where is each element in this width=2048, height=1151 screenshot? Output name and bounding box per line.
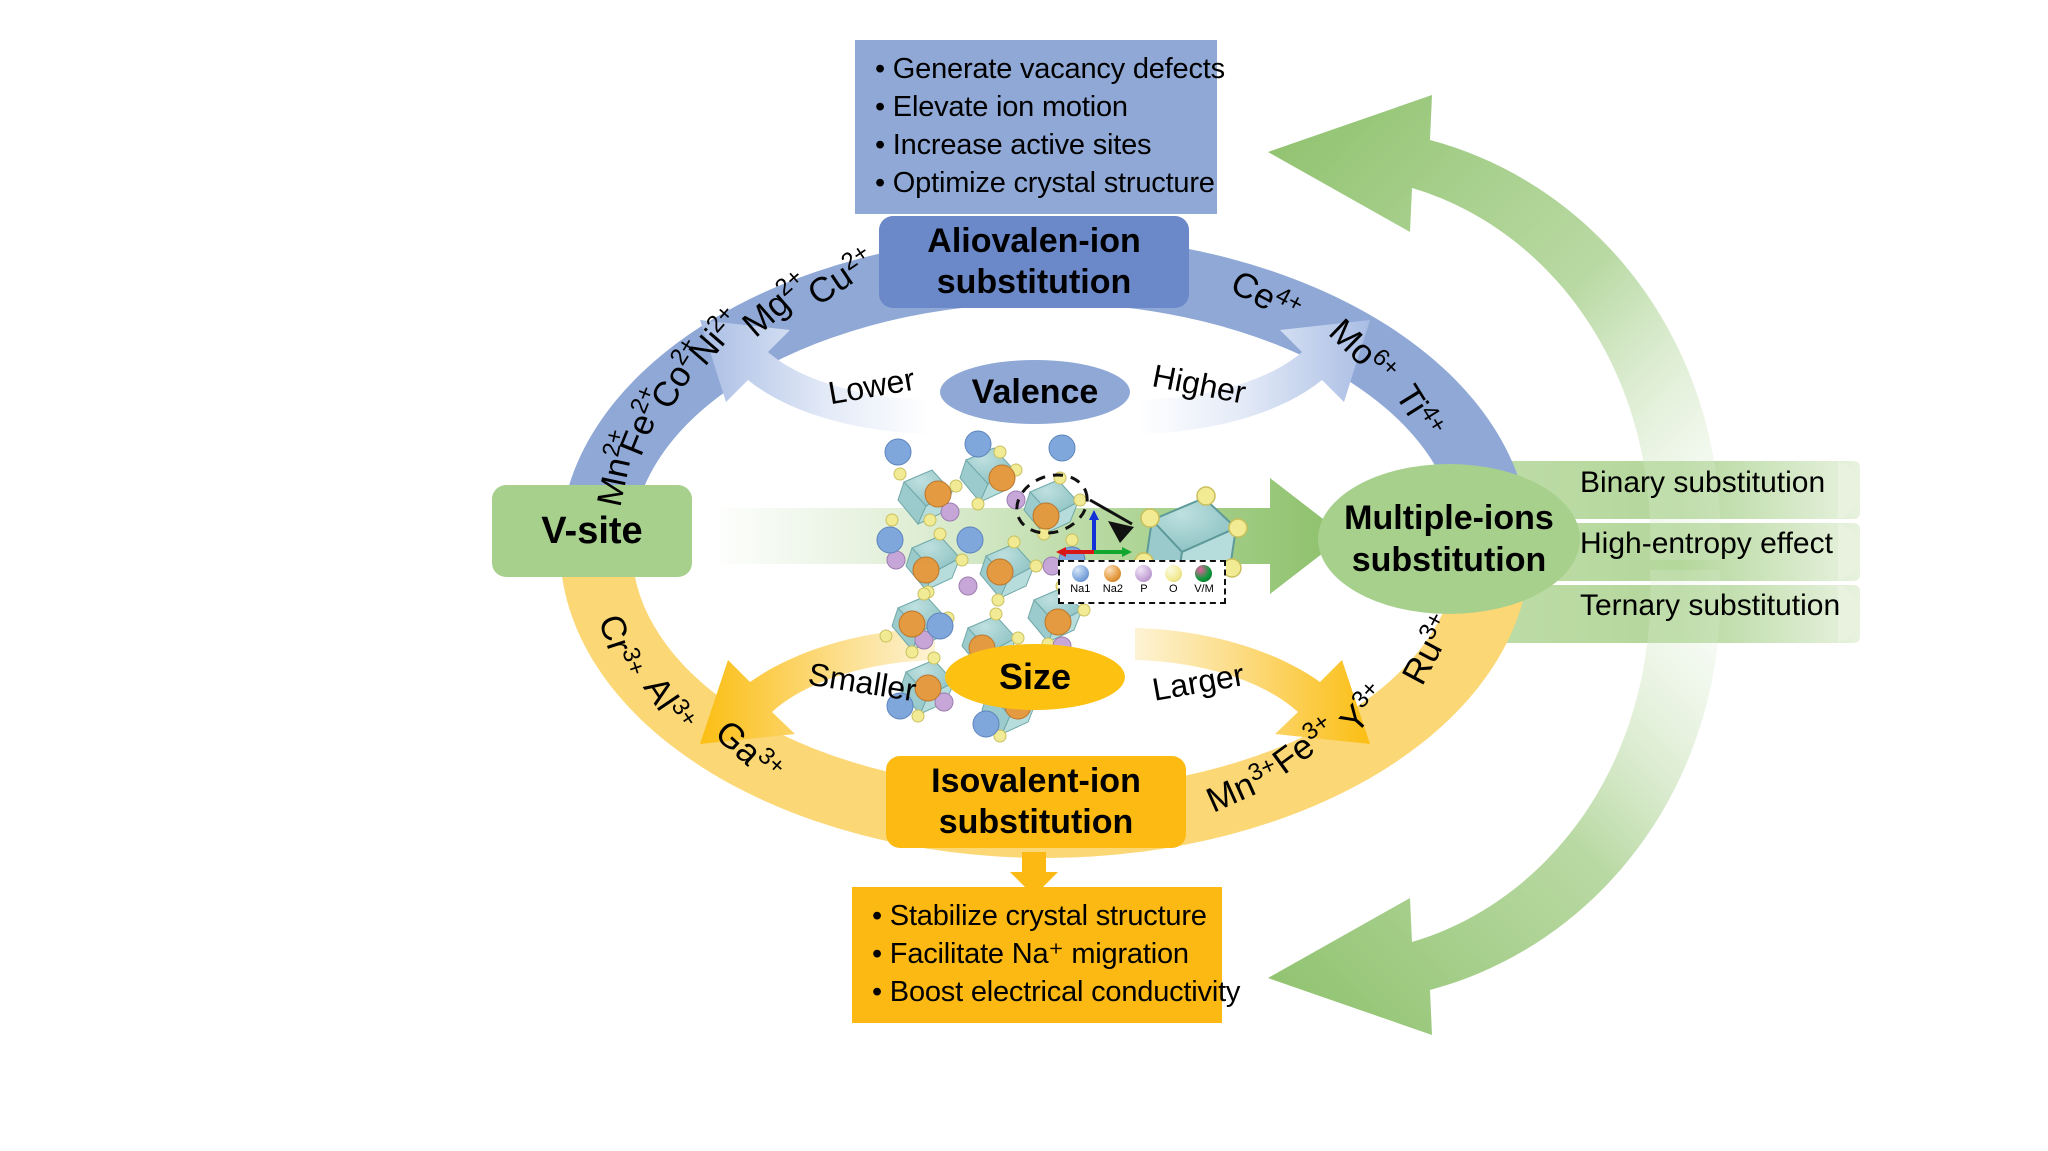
valence-label: Valence [972,373,1099,412]
outcome-line: • Elevate ion motion [875,88,1201,126]
outcome-line: • Optimize crystal structure [875,164,1201,202]
legend-swatch [1195,565,1212,582]
aliovalent-outcomes-box: • Generate vacancy defects • Elevate ion… [855,40,1217,214]
valence-axis-ellipse: Valence [940,360,1130,424]
legend-swatch [1104,565,1121,582]
legend-label: V/M [1194,583,1214,596]
label-line-2: substitution [937,262,1132,303]
outcome-line: • Stabilize crystal structure [872,897,1206,935]
multi-line-1: Multiple-ions [1344,497,1554,539]
legend-label: O [1169,583,1178,596]
label-line-2: substitution [939,802,1134,843]
high-entropy-effect-label: High-entropy effect [1580,527,1833,561]
aliovalent-substitution-label[interactable]: Aliovalen-ion substitution [879,216,1189,308]
legend-item-vm: V/M [1194,565,1214,596]
legend-swatch [1165,565,1182,582]
legend-item-o: O [1165,565,1182,596]
outcome-line: • Boost electrical conductivity [872,973,1206,1011]
legend-item-na1: Na1 [1070,565,1090,596]
legend-label: Na2 [1103,583,1123,596]
crystal-legend: Na1 Na2 P O V/M [1058,560,1226,604]
ion-charge: 2+ [597,427,629,459]
size-axis-ellipse: Size [945,644,1125,710]
legend-item-na2: Na2 [1103,565,1123,596]
isovalent-substitution-label[interactable]: Isovalent-ion substitution [886,756,1186,848]
multi-line-2: substitution [1352,539,1547,581]
size-label: Size [999,656,1071,698]
outcome-line: • Facilitate Na⁺ migration [872,935,1206,973]
outcome-line: • Generate vacancy defects [875,50,1201,88]
multiple-ions-substitution-ellipse[interactable]: Multiple-ions substitution [1318,464,1580,614]
legend-swatch [1135,565,1152,582]
legend-label: P [1140,583,1147,596]
isovalent-outcomes-box: • Stabilize crystal structure • Facilita… [852,887,1222,1023]
label-line-1: Isovalent-ion [931,761,1141,802]
outcome-line: • Increase active sites [875,126,1201,164]
binary-substitution-label: Binary substitution [1580,466,1825,500]
v-site-label: V-site [541,511,642,552]
ternary-substitution-label: Ternary substitution [1580,589,1840,623]
legend-swatch [1072,565,1089,582]
label-line-1: Aliovalen-ion [927,221,1140,262]
legend-item-p: P [1135,565,1152,596]
legend-label: Na1 [1070,583,1090,596]
